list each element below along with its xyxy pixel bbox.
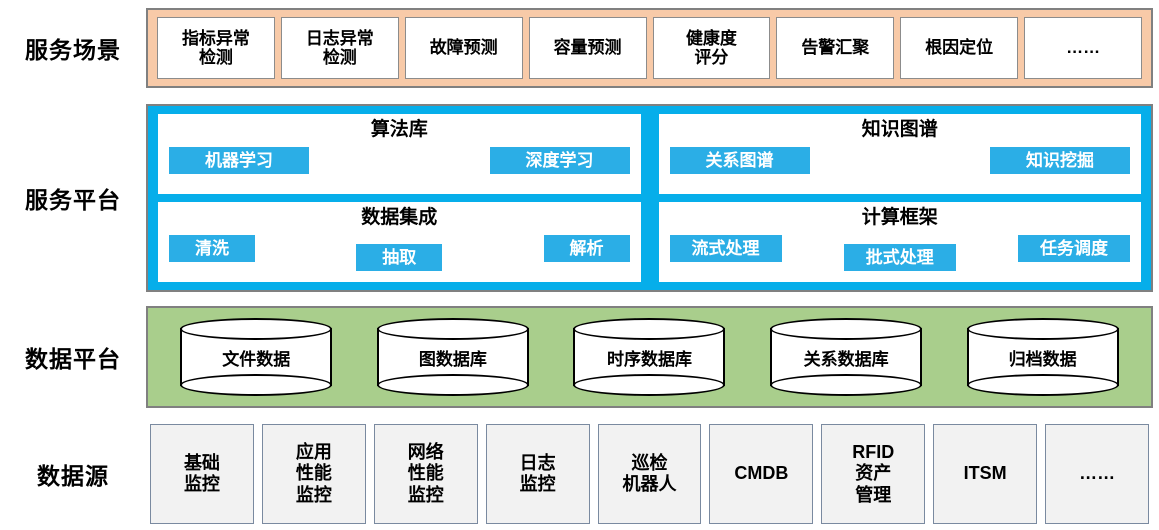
- row-label-service-scenario: 服务场景: [0, 8, 146, 88]
- database-cylinder[interactable]: 文件数据: [180, 318, 332, 396]
- scenario-box[interactable]: 根因定位: [900, 17, 1018, 79]
- data-source-box[interactable]: 巡检机器人: [598, 424, 702, 524]
- service-platform-band: 算法库 机器学习 深度学习 知识图谱 关系图谱 知识挖掘 数据集成 清洗: [146, 104, 1153, 292]
- data-source-box[interactable]: ……: [1045, 424, 1149, 524]
- database-cylinder[interactable]: 归档数据: [967, 318, 1119, 396]
- data-source-box[interactable]: 日志监控: [486, 424, 590, 524]
- chip-relation-graph[interactable]: 关系图谱: [670, 147, 810, 174]
- chip-row: 关系图谱 知识挖掘: [670, 147, 1131, 174]
- scenario-box[interactable]: 告警汇聚: [776, 17, 894, 79]
- cylinder-label: 归档数据: [967, 318, 1119, 396]
- platform-row-top: 算法库 机器学习 深度学习 知识图谱 关系图谱 知识挖掘: [158, 114, 1141, 194]
- chip-parse[interactable]: 解析: [544, 235, 630, 262]
- chip-deep-learning[interactable]: 深度学习: [490, 147, 630, 174]
- panel-knowledge-graph[interactable]: 知识图谱 关系图谱 知识挖掘: [659, 114, 1142, 194]
- panel-title: 数据集成: [361, 208, 437, 229]
- data-platform-band: 文件数据 图数据库 时序数据库 关系数据库 归档数据: [146, 306, 1153, 408]
- chip-machine-learning[interactable]: 机器学习: [169, 147, 309, 174]
- chip-batch-processing[interactable]: 批式处理: [844, 244, 956, 271]
- panel-title: 算法库: [371, 120, 428, 141]
- data-source-band: 基础监控 应用性能监控 网络性能监控 日志监控 巡检机器人 CMDB RFID资…: [146, 424, 1153, 524]
- database-cylinder[interactable]: 图数据库: [377, 318, 529, 396]
- chip-stream-processing[interactable]: 流式处理: [670, 235, 782, 262]
- scenario-box[interactable]: 容量预测: [529, 17, 647, 79]
- panel-algorithm-library[interactable]: 算法库 机器学习 深度学习: [158, 114, 641, 194]
- panel-compute-framework[interactable]: 计算框架 流式处理 批式处理 任务调度: [659, 202, 1142, 282]
- data-source-box[interactable]: 网络性能监控: [374, 424, 478, 524]
- chip-task-scheduling[interactable]: 任务调度: [1018, 235, 1130, 262]
- service-scenario-band: 指标异常检测 日志异常检测 故障预测 容量预测 健康度评分 告警汇聚 根因定位 …: [146, 8, 1153, 88]
- data-source-box[interactable]: CMDB: [709, 424, 813, 524]
- scenario-box[interactable]: ……: [1024, 17, 1142, 79]
- scenario-box[interactable]: 故障预测: [405, 17, 523, 79]
- row-label-data-source: 数据源: [0, 424, 146, 524]
- cylinder-label: 时序数据库: [573, 318, 725, 396]
- chip-row: 流式处理 批式处理 任务调度: [670, 235, 1131, 262]
- chip-row: 清洗 抽取 解析: [169, 235, 630, 262]
- chip-knowledge-mining[interactable]: 知识挖掘: [990, 147, 1130, 174]
- row-label-data-platform: 数据平台: [0, 306, 146, 408]
- data-source-box[interactable]: RFID资产管理: [821, 424, 925, 524]
- cylinder-label: 关系数据库: [770, 318, 922, 396]
- scenario-box[interactable]: 指标异常检测: [157, 17, 275, 79]
- chip-row: 机器学习 深度学习: [169, 147, 630, 174]
- panel-title: 计算框架: [862, 208, 938, 229]
- database-cylinder[interactable]: 时序数据库: [573, 318, 725, 396]
- chip-extract[interactable]: 抽取: [356, 244, 442, 271]
- panel-data-integration[interactable]: 数据集成 清洗 抽取 解析: [158, 202, 641, 282]
- cylinder-label: 文件数据: [180, 318, 332, 396]
- data-source-box[interactable]: 基础监控: [150, 424, 254, 524]
- database-cylinder[interactable]: 关系数据库: [770, 318, 922, 396]
- scenario-box[interactable]: 日志异常检测: [281, 17, 399, 79]
- panel-title: 知识图谱: [862, 120, 938, 141]
- chip-cleaning[interactable]: 清洗: [169, 235, 255, 262]
- scenario-box[interactable]: 健康度评分: [653, 17, 771, 79]
- architecture-diagram: 服务场景 服务平台 数据平台 数据源 指标异常检测 日志异常检测 故障预测 容量…: [0, 0, 1159, 530]
- row-label-service-platform: 服务平台: [0, 104, 146, 292]
- platform-row-bottom: 数据集成 清洗 抽取 解析 计算框架 流式处理 批式处理 任务调度: [158, 202, 1141, 282]
- data-source-box[interactable]: ITSM: [933, 424, 1037, 524]
- cylinder-label: 图数据库: [377, 318, 529, 396]
- data-source-box[interactable]: 应用性能监控: [262, 424, 366, 524]
